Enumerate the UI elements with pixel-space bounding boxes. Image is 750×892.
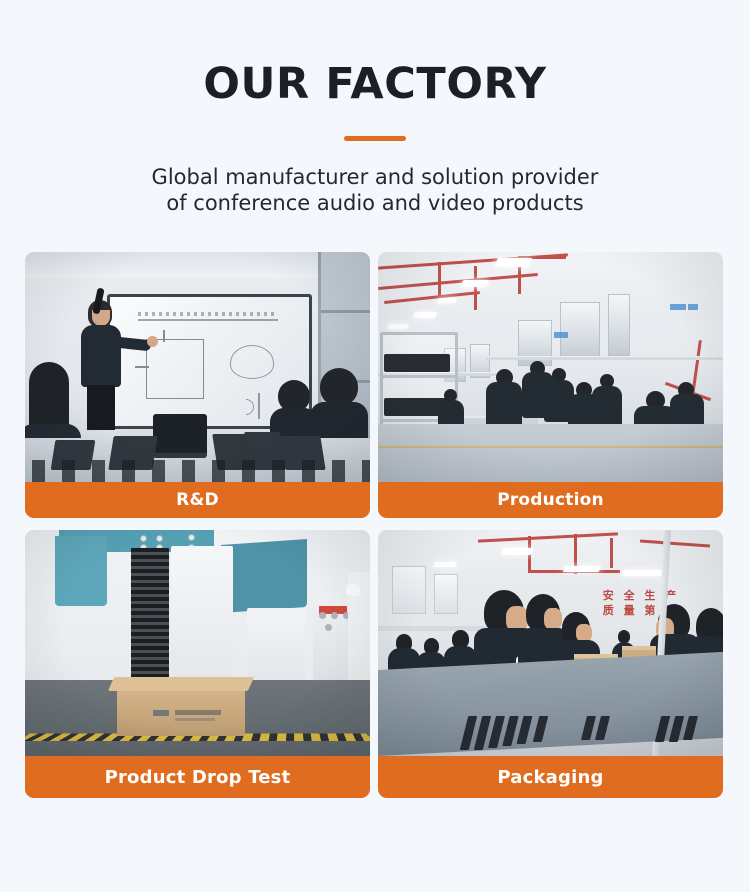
factory-card-rd[interactable]: R&D [25,252,370,518]
card-caption-rd: R&D [25,482,370,518]
page-subtitle: Global manufacturer and solution provide… [0,164,750,216]
factory-cards-grid: R&D [25,252,723,798]
title-divider [344,136,406,141]
packaging-photo: 安 全 生 产 质 量 第 一 [378,530,723,756]
test-carton-icon [117,688,245,736]
factory-card-production[interactable]: Production [378,252,723,518]
page-title: OUR FACTORY [0,62,750,107]
page-header: OUR FACTORY Global manufacturer and solu… [0,0,750,216]
subtitle-line-1: Global manufacturer and solution provide… [0,164,750,190]
factory-card-packaging[interactable]: 安 全 生 产 质 量 第 一 [378,530,723,798]
card-caption-production: Production [378,482,723,518]
drop-test-photo [25,530,370,756]
rd-photo [25,252,370,482]
subtitle-line-2: of conference audio and video products [0,190,750,216]
production-photo [378,252,723,482]
factory-card-drop-test[interactable]: Product Drop Test [25,530,370,798]
card-caption-drop-test: Product Drop Test [25,756,370,798]
card-caption-packaging: Packaging [378,756,723,798]
